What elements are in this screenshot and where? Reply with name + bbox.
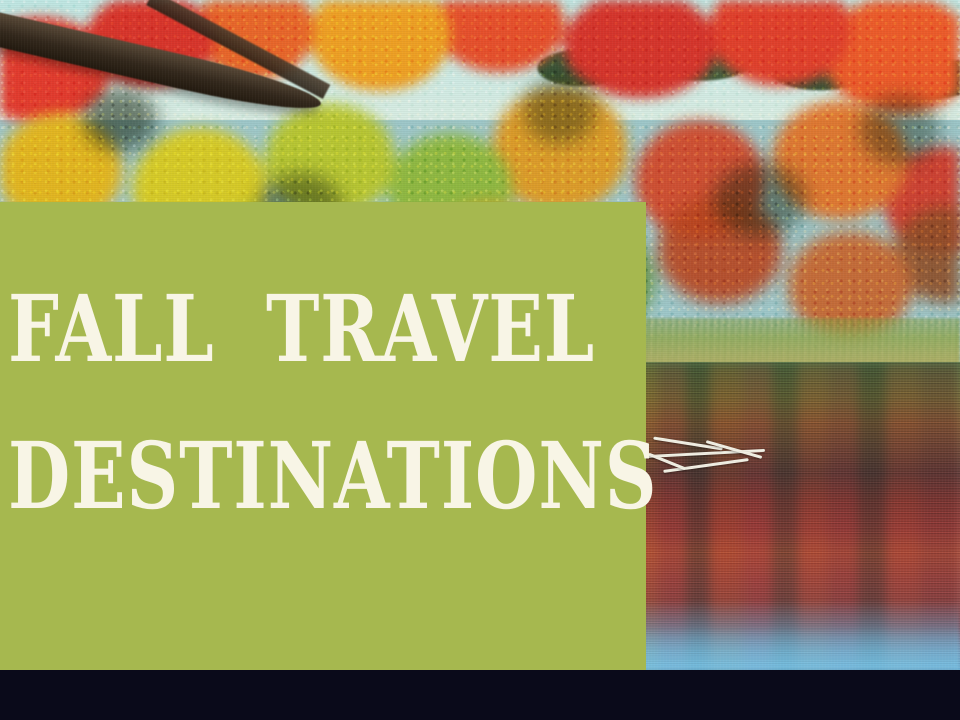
water-sky-sheen [600, 600, 960, 670]
green-text-panel: FALL TRAVEL DESTINATIONS A PRESENTATION … [0, 202, 646, 670]
bottom-accent-bar [0, 670, 960, 720]
slide-title: FALL TRAVEL DESTINATIONS [8, 284, 628, 522]
title-line-1: FALL TRAVEL [8, 284, 492, 375]
presentation-title-slide: FALL TRAVEL DESTINATIONS A PRESENTATION … [0, 0, 960, 720]
title-line-2: DESTINATIONS [8, 431, 492, 522]
driftwood-branch [645, 440, 775, 474]
